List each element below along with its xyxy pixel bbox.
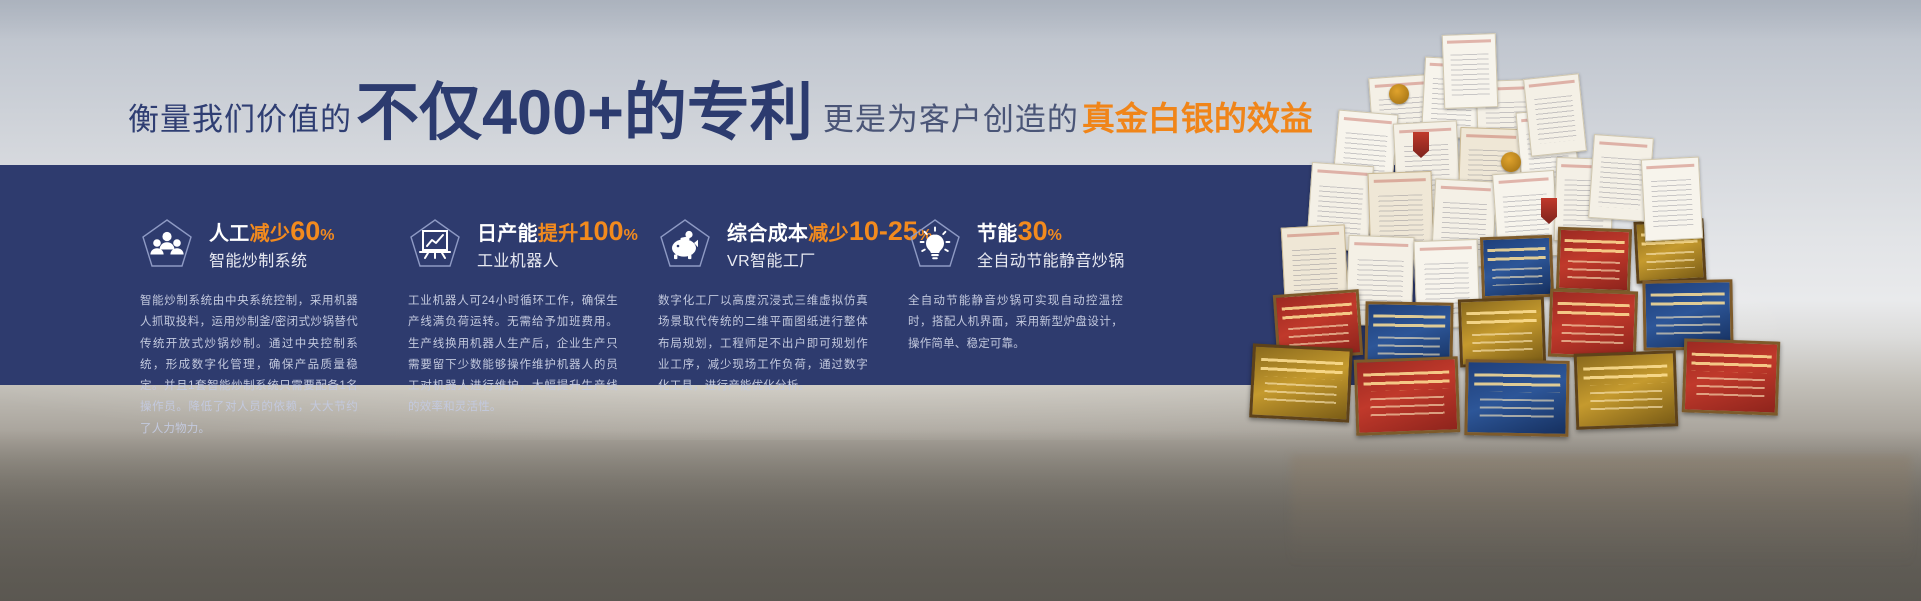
headline-emphasis: 不仅400+的专利 (356, 82, 813, 145)
piggy-bank-icon (658, 217, 712, 271)
water-surface (0, 430, 1921, 601)
feature-column-2: 日产能提升100% 工业机器人 工业机器人可24小时循环工作，确保生产线满负荷运… (408, 165, 658, 385)
feature-title-number: 100 (579, 216, 624, 246)
headline-highlight: 真金白银的效益 (1082, 92, 1313, 140)
feature-title-number: 60 (290, 216, 320, 246)
feature-subtitle-2: 工业机器人 (477, 253, 638, 270)
headline-lead: 衡量我们价值的 (128, 94, 352, 139)
feature-title-3: 综合成本减少10-25% (727, 217, 932, 246)
feature-body-2: 工业机器人可24小时循环工作，确保生产线满负荷运转。无需给予加班费用。生产线换用… (408, 291, 618, 419)
people-group-icon (140, 217, 194, 271)
feature-title-prefix: 节能 (977, 223, 1018, 245)
feature-column-3: 综合成本减少10-25% VR智能工厂 数字化工厂以高度沉浸式三维虚拟仿真场景取… (658, 165, 908, 385)
feature-column-1: 人工减少60% 智能炒制系统 智能炒制系统由中央系统控制，采用机器人抓取投料，运… (140, 165, 408, 385)
feature-title-number: 30 (1018, 216, 1048, 246)
feature-title-prefix: 人工 (209, 223, 250, 245)
feature-title-accent: 减少 (808, 223, 849, 245)
lightbulb-icon (908, 217, 962, 271)
sky-gradient (0, 0, 1921, 40)
feature-title-unit: % (1048, 227, 1063, 244)
feature-title-prefix: 综合成本 (727, 223, 808, 245)
feature-title-accent: 减少 (250, 223, 291, 245)
feature-subtitle-1: 智能炒制系统 (209, 253, 335, 270)
feature-body-3: 数字化工厂以高度沉浸式三维虚拟仿真场景取代传统的二维平面图纸进行整体布局规划，工… (658, 291, 868, 397)
certificate-wall-reflection (1291, 455, 1911, 565)
feature-column-4: 节能30% 全自动节能静音炒锅 全自动节能静音炒锅可实现自动控温控时，搭配人机界… (908, 165, 1168, 385)
feature-body-1: 智能炒制系统由中央系统控制，采用机器人抓取投料，运用炒制釜/密闭式炒锅替代传统开… (140, 291, 358, 440)
headline-mid: 更是为客户创造的 (823, 94, 1079, 139)
features-panel: 人工减少60% 智能炒制系统 智能炒制系统由中央系统控制，采用机器人抓取投料，运… (0, 165, 1426, 385)
feature-subtitle-3: VR智能工厂 (727, 253, 932, 270)
feature-title-4: 节能30% (977, 217, 1125, 246)
feature-body-4: 全自动节能静音炒锅可实现自动控温控时，搭配人机界面，采用新型炉盘设计，操作简单、… (908, 291, 1123, 355)
feature-title-unit: % (320, 227, 335, 244)
chart-board-icon (408, 217, 462, 271)
feature-subtitle-4: 全自动节能静音炒锅 (977, 253, 1125, 270)
page-title: 衡量我们价值的 不仅400+的专利 更是为客户创造的 真金白银的效益 (128, 78, 1313, 141)
feature-title-2: 日产能提升100% (477, 217, 638, 246)
feature-title-prefix: 日产能 (477, 223, 538, 245)
banner-stage: 衡量我们价值的 不仅400+的专利 更是为客户创造的 真金白银的效益 (0, 0, 1921, 601)
feature-title-1: 人工减少60% (209, 217, 335, 246)
feature-title-unit: % (624, 227, 639, 244)
feature-title-accent: 提升 (538, 223, 579, 245)
